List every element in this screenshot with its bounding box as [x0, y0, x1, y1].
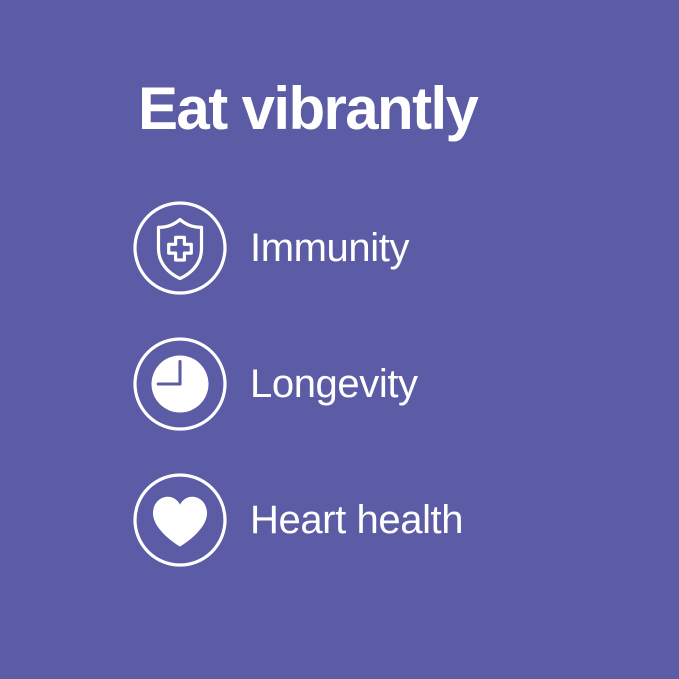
feature-label-longevity: Longevity	[250, 361, 418, 407]
feature-list: Immunity Longevity Heart health	[133, 201, 653, 567]
feature-item-longevity: Longevity	[133, 337, 653, 431]
feature-item-immunity: Immunity	[133, 201, 653, 295]
heart-icon	[133, 473, 227, 567]
feature-label-immunity: Immunity	[250, 225, 409, 271]
shield-plus-icon	[133, 201, 227, 295]
poster-canvas: Eat vibrantly Immunity Longevity	[0, 0, 679, 679]
feature-item-heart-health: Heart health	[133, 473, 653, 567]
feature-label-heart-health: Heart health	[250, 497, 463, 543]
clock-icon	[133, 337, 227, 431]
page-title: Eat vibrantly	[138, 74, 638, 144]
